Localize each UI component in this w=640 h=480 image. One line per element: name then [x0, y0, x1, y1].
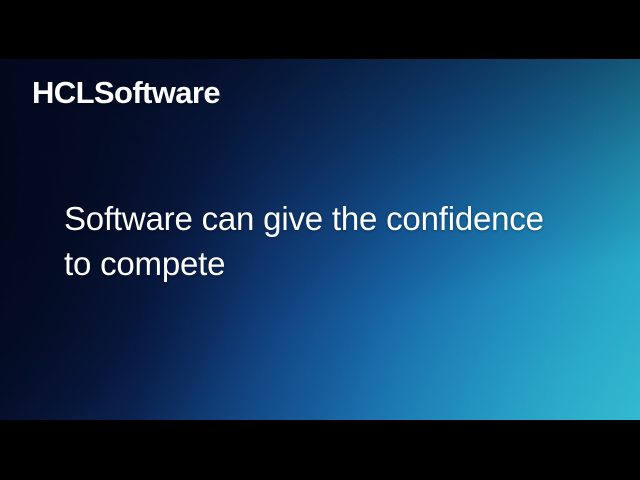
headline-text: Software can give the confidence to comp… — [64, 196, 594, 286]
letterbox-bar-bottom — [0, 420, 640, 480]
letterbox-bar-top — [0, 0, 640, 59]
hcl-software-logo: HCLSoftware — [32, 76, 220, 110]
headline-line-1: Software can give the confidence — [64, 196, 594, 241]
video-frame: HCLSoftware Software can give the confid… — [0, 0, 640, 480]
headline-line-2: to compete — [64, 241, 594, 286]
